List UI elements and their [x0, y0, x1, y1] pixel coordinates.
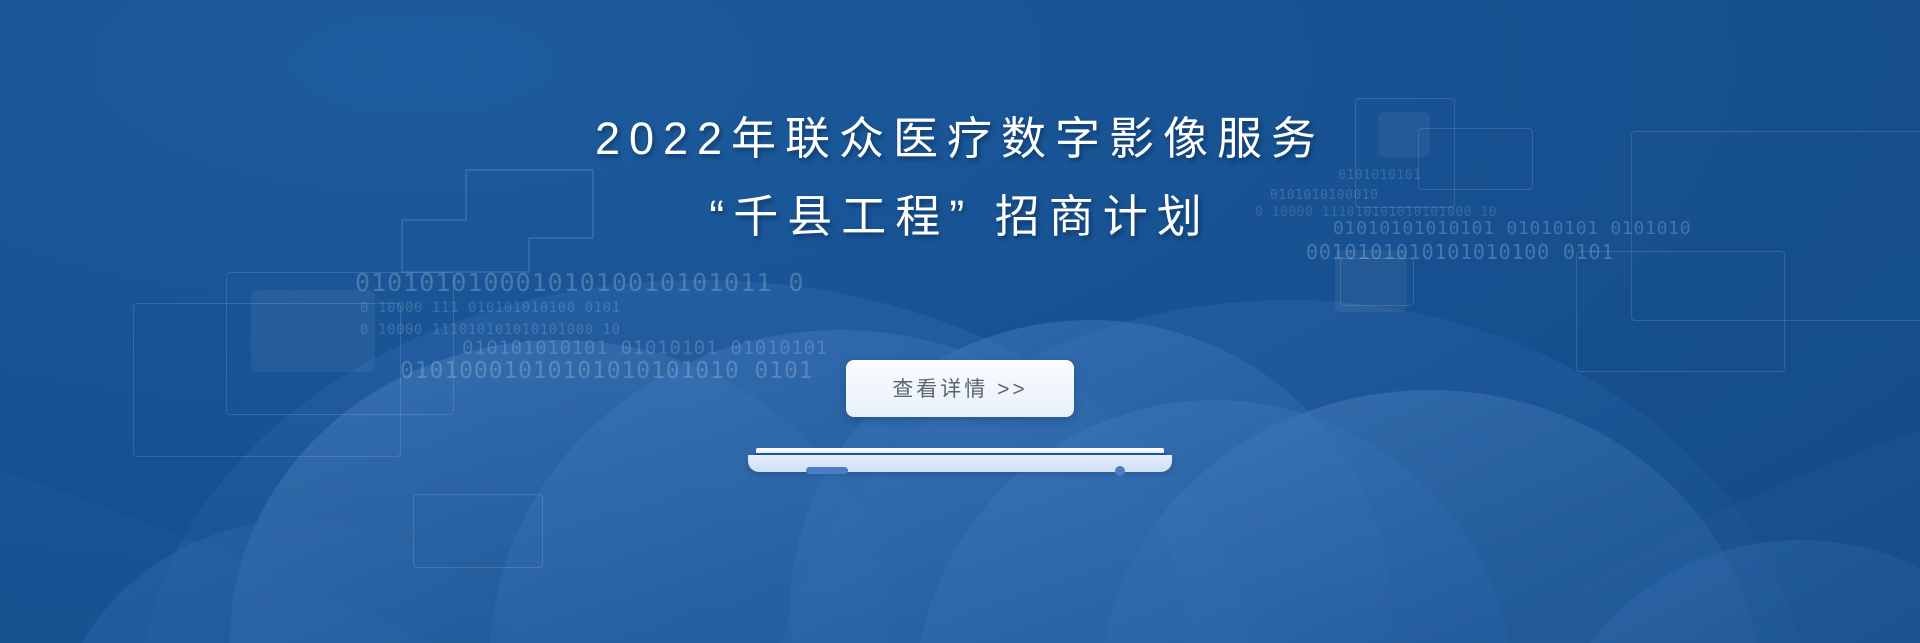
binary-decor-1: 01010101000101010010101011 0 [355, 268, 804, 297]
headline-block: 2022年联众医疗数字影像服务 “千县工程” 招商计划 [0, 100, 1920, 256]
headline-line-2: “千县工程” 招商计划 [0, 178, 1920, 256]
view-details-button[interactable]: 查看详情 >> [846, 360, 1074, 417]
decor-rect-bottom-left [413, 494, 543, 568]
laptop-speaker-pill-icon [806, 467, 848, 474]
binary-decor-4: 010101010101 01010101 01010101 [462, 337, 828, 359]
laptop-body [748, 455, 1172, 472]
decor-rect-far-right-lower [1576, 251, 1785, 372]
binary-decor-3: 0 10000 111010101010101000 10 [360, 322, 621, 338]
laptop-base-graphic [748, 448, 1172, 472]
headline-line-1: 2022年联众医疗数字影像服务 [0, 100, 1920, 178]
laptop-indicator-dot-icon [1115, 466, 1125, 476]
cta-container: 查看详情 >> [0, 360, 1920, 417]
cloud-background [0, 0, 1920, 643]
binary-decor-2: 0 10000 111 010101010100 0101 [360, 300, 621, 316]
promo-banner: 01010101000101010010101011 0 0 10000 111… [0, 0, 1920, 643]
decor-rect-mid-left-fill [1335, 250, 1407, 312]
decor-rect-mid-left-small [1340, 258, 1414, 306]
